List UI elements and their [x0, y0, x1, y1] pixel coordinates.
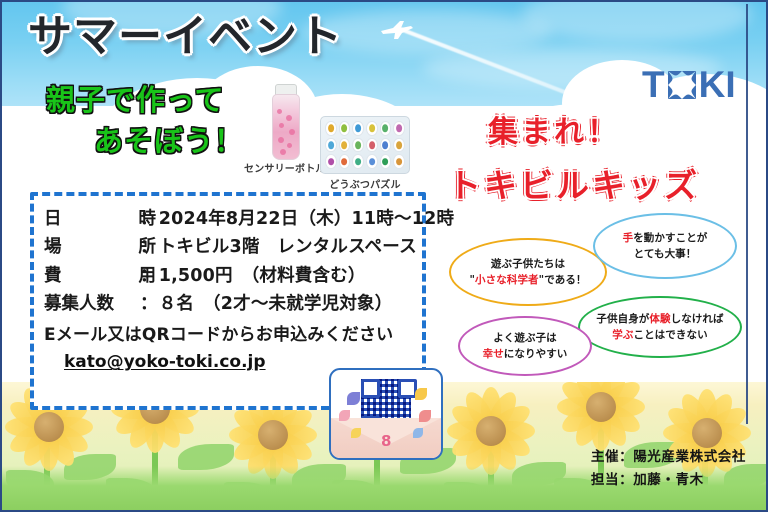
headline-tokibuilding-kids: トキビルキッズ — [448, 159, 700, 207]
bubble-text: よく遊ぶ子は 幸せになりやすい — [483, 330, 568, 363]
subtitle-line-2: あそぼう！ — [46, 121, 244, 162]
bubble-scientist: 遊ぶ子供たちは "小さな科学者"である！ — [449, 238, 607, 306]
organizer-host: 主催：陽光産業株式会社 — [591, 446, 746, 470]
detail-colon: ： — [140, 262, 158, 290]
toki-logo: T KI — [642, 66, 736, 103]
bubble-highlight: 小さな科学者 — [475, 274, 539, 286]
detail-row-capacity: 募集人数 ： ８名 （2才～未就学児対象） — [44, 290, 422, 318]
detail-colon: ： — [140, 205, 158, 233]
detail-colon: ： — [140, 290, 158, 318]
event-flyer: サマーイベント 親子で作って あそぼう！ センサリーボトル — [0, 0, 768, 512]
detail-label: 場 所 — [44, 233, 140, 261]
detail-colon: ： — [140, 233, 158, 261]
animal-puzzle-image — [320, 116, 410, 174]
detail-label: 費 用 — [44, 262, 140, 290]
sunflower — [558, 382, 644, 450]
bubble-text: 遊ぶ子供たちは "小さな科学者"である！ — [469, 256, 586, 289]
bubble-line-2-rest: "である！ — [539, 274, 587, 286]
bubble-text: 子供自身が体験しなければ 学ぶことはできない — [596, 311, 723, 344]
bubble-line-2-post: になりやすい — [504, 348, 568, 360]
detail-value: トキビル3階 レンタルスペース — [159, 233, 417, 261]
detail-value: ８名 （2才～未就学児対象） — [159, 290, 393, 318]
bubble-line-1-pre: 子供自身が — [596, 313, 649, 325]
bubble-experience: 子供自身が体験しなければ 学ぶことはできない — [578, 296, 742, 358]
organizer-block: 主催：陽光産業株式会社 担当：加藤・青木 — [591, 446, 746, 493]
contact-email[interactable]: kato@yoko-toki.co.jp — [64, 352, 266, 372]
product-sensory-bottle: センサリーボトル — [244, 84, 326, 175]
bubble-highlight: 幸せ — [483, 348, 504, 360]
qr-code-envelope[interactable]: 8 — [329, 368, 443, 460]
detail-value: 1,500円 （材料費含む） — [159, 262, 366, 290]
toki-star-icon — [667, 70, 697, 100]
event-details-list: 日 時 ： 2024年8月22日（木）11時～12時 場 所 ： トキビル3階 … — [34, 196, 422, 318]
bubble-highlight: 体験 — [649, 313, 670, 325]
bubble-happy: よく遊ぶ子は 幸せになりやすい — [458, 316, 592, 376]
bubble-text: 手を動かすことが とても大事！ — [623, 230, 708, 263]
airplane-icon — [380, 20, 414, 40]
detail-value: 2024年8月22日（木）11時～12時 — [159, 205, 454, 233]
logo-letters-ki: KI — [699, 66, 736, 103]
bubble-line-1-post: しなければ — [671, 313, 724, 325]
subtitle: 親子で作って あそぼう！ — [46, 80, 244, 162]
sunflower — [448, 388, 534, 474]
organizer-contact: 担当：加藤・青木 — [591, 469, 746, 493]
detail-row-place: 場 所 ： トキビル3階 レンタルスペース — [44, 233, 422, 261]
bubble-line-1: 遊ぶ子供たちは — [491, 258, 565, 270]
headline-atsumare: 集まれ！ — [488, 107, 620, 151]
bubble-line-1: よく遊ぶ子は — [493, 332, 557, 344]
detail-label: 募集人数 — [44, 290, 140, 318]
logo-letter-t: T — [642, 66, 665, 103]
product-caption: センサリーボトル — [244, 160, 326, 175]
detail-row-date: 日 時 ： 2024年8月22日（木）11時～12時 — [44, 205, 422, 233]
detail-row-fee: 費 用 ： 1,500円 （材料費含む） — [44, 262, 422, 290]
subtitle-line-1: 親子で作って — [46, 83, 225, 117]
product-caption: どうぶつパズル — [320, 176, 410, 191]
application-instructions: Eメール又はQRコードからお申込みください — [34, 318, 422, 345]
page-title: サマーイベント — [28, 0, 343, 64]
bubble-line-2-post: ことはできない — [633, 329, 707, 341]
sensory-bottle-image — [270, 84, 300, 158]
bubble-line-2: とても大事！ — [634, 248, 697, 260]
detail-label: 日 時 — [44, 205, 140, 233]
product-animal-puzzle: どうぶつパズル — [320, 116, 410, 191]
bubble-highlight: 手 — [623, 232, 634, 244]
bubble-highlight-2: 学ぶ — [612, 329, 633, 341]
bubble-hands: 手を動かすことが とても大事！ — [593, 213, 737, 279]
bubble-line-1-rest: を動かすことが — [633, 232, 707, 244]
right-vertical-rule — [746, 4, 748, 424]
